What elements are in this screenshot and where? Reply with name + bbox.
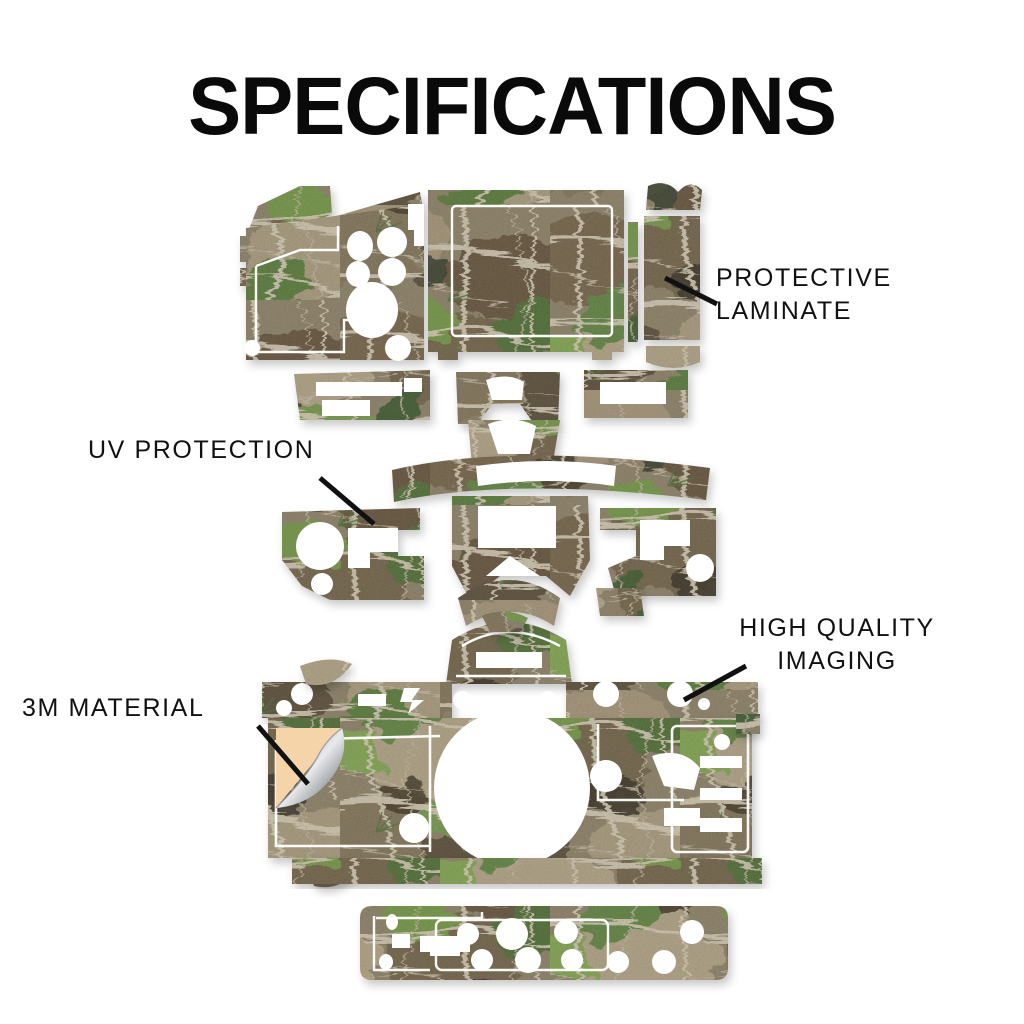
deck-hole-1 [291,683,313,705]
deck-hole-6 [667,681,693,707]
callout-uv-protection: UV PROTECTION [88,434,388,467]
deck-slot [358,694,386,706]
piece-accent-tab-lower-right [646,346,700,368]
skin-pieces-top-cluster [240,183,702,368]
body-hole-left [399,813,429,843]
piece-accent-tab-upper-right [646,183,702,210]
grip-hole-left-small [311,573,333,595]
deck-hole-7 [698,698,710,710]
port-hole-5 [554,920,578,944]
cutout-right-window [600,382,666,404]
port-hole-8 [561,949,583,971]
side-notch [414,226,424,246]
port-hole-1 [386,914,398,930]
body-vent-right-2 [664,808,700,826]
grip-hole-left-large [296,522,344,570]
port-slot-3 [430,946,460,956]
dial-cutout-6 [244,340,260,356]
piece-lcd-back-panel [428,190,624,360]
dial-cutout-4 [378,258,406,286]
specifications-graphic: SPECIFICATIONS PROTECTIVE LAMINATE UV PR… [0,0,1024,1024]
body-slot-right-3 [700,818,742,832]
flake-upper-left [300,659,352,685]
piece-right-side-panel [644,216,700,340]
page-title: SPECIFICATIONS [15,66,1008,148]
hump-die-cuts [476,652,542,668]
cutout-left-window [316,382,402,396]
piece-tiny-sliver-a [240,236,246,262]
port-hole-10 [652,950,676,974]
port-hole-9 [607,951,629,973]
callout-protective-laminate: PROTECTIVE LAMINATE [716,262,956,328]
dial-cutout-1 [347,231,373,261]
port-hole-11 [680,920,704,944]
port-slot-2 [392,934,410,948]
piece-right-narrow-strip [628,222,638,342]
lens-opening-cutout [434,710,590,866]
body-hole-lens-release [590,760,622,792]
grip-hole-right-2 [686,554,714,582]
grip-hole-right [647,533,665,551]
cutout-left-tab [404,378,422,392]
dial-cutout-5 [385,335,411,361]
piece-tiny-sliver-b [240,268,246,286]
body-hole-right-panel [714,734,730,750]
mount-window [478,506,556,548]
hotshoe-cutout [476,652,542,668]
cutout-left-square [322,400,370,416]
callout-high-quality-imaging: HIGH QUALITY IMAGING [712,612,962,678]
deck-hole-3 [453,691,471,709]
deck-hole-4 [539,691,557,709]
port-hole-2 [379,954,393,970]
flake-right-small [736,714,760,734]
flake-top-small [482,611,528,632]
dial-cutout-2 [377,227,407,257]
body-slot-right-2 [700,788,742,800]
port-hole-6 [471,949,493,971]
port-hole-3 [496,918,528,950]
deck-hole-5 [593,681,619,707]
callout-3m-material: 3M MATERIAL [22,692,282,725]
main-dial-cutout [346,282,398,338]
cutout-center-hood [486,376,524,400]
piece-base-strip [292,858,762,884]
body-slot-right-1 [700,756,742,768]
skin-sheet-illustration [0,0,1024,1024]
